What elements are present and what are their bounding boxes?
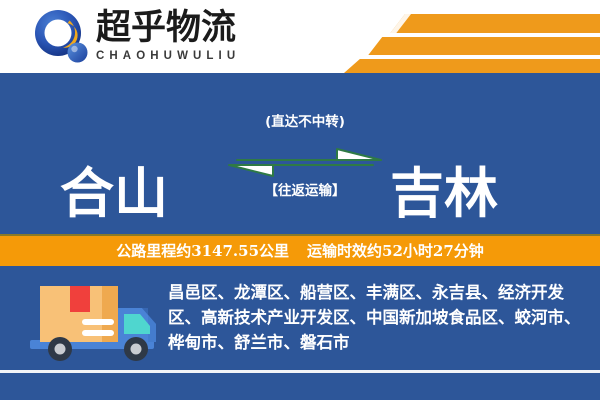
speed-stripes-icon [330,0,600,73]
direct-note: (直达不中转) [225,113,385,131]
coverage-areas-text: 昌邑区、龙潭区、船营区、丰满区、永吉县、经济开发区、高新技术产业开发区、中国新加… [168,280,592,355]
brand-name-en: CHAOHUWULIU [96,49,266,63]
route-info-bar: 公路里程约3147.55公里 运输时效约52小时27分钟 [0,234,600,266]
bidirectional-arrow-icon [225,134,385,178]
destination-city: 吉林 [390,163,498,223]
header: 超乎物流 CHAOHUWULIU [0,0,600,73]
circle-crescent-logo-icon [33,9,89,65]
origin-city: 合山 [60,163,168,223]
roundtrip-note: 【往返运输】 [225,182,385,200]
logistics-route-banner: 超乎物流 CHAOHUWULIU 合山 (直达不中转) [0,0,600,400]
route-section: 合山 (直达不中转) 【往返运输】 吉林 [0,73,600,234]
route-middle: (直达不中转) 【往返运输】 [225,113,385,223]
brand-text: 超乎物流 CHAOHUWULIU [96,8,266,66]
distance-text: 公路里程约3147.55公里 [116,236,289,266]
duration-text: 运输时效约52小时27分钟 [307,236,484,266]
brand-name-cn: 超乎物流 [96,8,266,48]
bottom-divider [0,370,600,373]
delivery-truck-icon [22,278,167,373]
coverage-section: 昌邑区、龙潭区、船营区、丰满区、永吉县、经济开发区、高新技术产业开发区、中国新加… [0,266,600,400]
